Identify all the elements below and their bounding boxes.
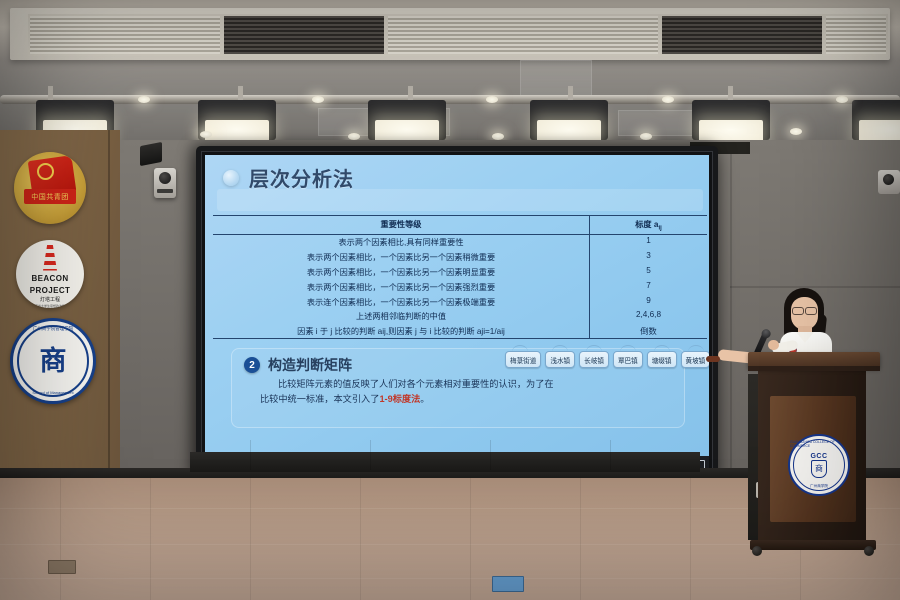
slide-title: 层次分析法 bbox=[249, 163, 354, 192]
table-cell-scale: 7 bbox=[590, 279, 707, 294]
location-chip[interactable]: 梅菉街道 bbox=[505, 351, 541, 368]
table-cell-level: 表示两个因素相比，一个因素比另一个因素明显重要 bbox=[213, 265, 590, 280]
beacon-line3: 灯塔工程 bbox=[40, 296, 60, 303]
table-header-row: 重要性等级 标度 aij bbox=[213, 216, 707, 235]
air-vent-grille bbox=[222, 14, 386, 56]
seal-bottom-text: 广州商学院 bbox=[810, 484, 828, 489]
star-icon bbox=[37, 163, 54, 180]
table-cell-level: 表示两个因素相比，一个因素比另一个因素稍微重要 bbox=[213, 250, 590, 265]
table-cell-level: 表示两个因素相比，一个因素比另一个因素强烈重要 bbox=[213, 279, 590, 294]
floor-outlet bbox=[48, 560, 76, 574]
presenter-hand bbox=[768, 340, 779, 350]
school-badge-bottom-text: School of Management bbox=[13, 390, 93, 395]
downlight bbox=[492, 133, 504, 140]
lecture-hall-photo: 中国共青团 BEACON PROJECT 灯塔工程 广东省大学生思想政治教育 广… bbox=[0, 0, 900, 600]
location-chip[interactable]: 浅水镇 bbox=[545, 351, 575, 368]
table-header-scale-sub: ij bbox=[658, 226, 661, 232]
downlight bbox=[486, 96, 498, 103]
stage-light bbox=[368, 100, 446, 140]
table-cell-scale: 3 bbox=[590, 250, 707, 265]
college-seal: GUANGZHOU COLLEGE OF COMMERCE GCC 商 广州商学… bbox=[788, 434, 850, 496]
camera-lens-icon bbox=[883, 174, 894, 185]
podium-base bbox=[750, 540, 876, 550]
ceiling-soffit bbox=[10, 8, 890, 60]
location-chip-group: 梅菉街道 浅水镇 长岐镇 覃巴镇 塘缀镇 黄坡镇 bbox=[505, 351, 709, 368]
wall-panel-line bbox=[108, 130, 110, 488]
table-row: 表示两个因素相比,具有同样重要性 1 bbox=[213, 235, 707, 250]
section-body-highlight: 1-9标度法 bbox=[379, 394, 420, 404]
table-cell-scale: 1 bbox=[590, 235, 707, 250]
wall-camera bbox=[878, 170, 900, 194]
table-header-scale-text: 标度 a bbox=[635, 220, 658, 229]
table-cell-scale: 9 bbox=[590, 294, 707, 309]
air-vent-grille bbox=[386, 14, 660, 56]
display-screen[interactable]: 层次分析法 重要性等级 标度 aij 表示两个因素相比,具有同样重要性 1 表示… bbox=[205, 155, 709, 472]
camera-lens-icon bbox=[159, 172, 171, 184]
table-cell-level: 上述两相邻临判断的中值 bbox=[213, 309, 590, 324]
badge-ring bbox=[17, 325, 89, 397]
downlight bbox=[836, 96, 848, 103]
table-header-scale: 标度 aij bbox=[590, 216, 707, 234]
table-cell-level: 因素 i 于 j 比较的判断 aij,则因素 j 与 i 比较的判断 aji=1… bbox=[213, 324, 590, 339]
location-chip[interactable]: 黄坡镇 bbox=[681, 351, 710, 368]
air-vent-grille bbox=[28, 14, 222, 56]
caster-wheel bbox=[752, 546, 762, 556]
stage-light bbox=[852, 100, 900, 140]
table-cell-level: 表示两个因素相比,具有同样重要性 bbox=[213, 235, 590, 250]
downlight bbox=[312, 96, 324, 103]
downlight bbox=[790, 128, 802, 135]
table-row: 表示两个因素相比，一个因素比另一个因素明显重要 5 bbox=[213, 265, 707, 280]
camera-ir-strip bbox=[157, 189, 173, 193]
league-badge-text: 中国共青团 bbox=[24, 189, 76, 204]
table-cell-scale: 2,4,6,8 bbox=[590, 309, 707, 324]
scale-table: 重要性等级 标度 aij 表示两个因素相比,具有同样重要性 1 表示两个因素相比… bbox=[213, 215, 707, 339]
school-of-management-badge: 广州商学院管理学院 商 School of Management bbox=[10, 318, 96, 404]
air-vent-grille bbox=[660, 14, 824, 56]
stage-light bbox=[692, 100, 770, 140]
downlight bbox=[200, 131, 212, 138]
ceiling-speaker bbox=[140, 142, 162, 166]
air-vent-grille bbox=[824, 14, 888, 56]
stage-light bbox=[530, 100, 608, 140]
seal-top-text: GUANGZHOU COLLEGE OF COMMERCE bbox=[790, 440, 848, 448]
wall-camera bbox=[154, 168, 176, 198]
table-row: 因素 i 于 j 比较的判断 aij,则因素 j 与 i 比较的判断 aji=1… bbox=[213, 324, 707, 339]
caster-wheel bbox=[864, 546, 874, 556]
table-row: 上述两相邻临判断的中值 2,4,6,8 bbox=[213, 309, 707, 324]
lectern-podium: GUANGZHOU COLLEGE OF COMMERCE GCC 商 广州商学… bbox=[748, 352, 880, 562]
location-chip[interactable]: 长岐镇 bbox=[579, 351, 609, 368]
podium-top-edge bbox=[748, 366, 880, 371]
beacon-line1: BEACON bbox=[31, 274, 68, 283]
slide-title-row: 层次分析法 bbox=[223, 163, 354, 192]
table-cell-scale: 5 bbox=[590, 265, 707, 280]
section-heading: 构造判断矩阵 bbox=[268, 355, 352, 375]
step-number-badge: 2 bbox=[244, 357, 260, 373]
table-cell-scale: 倒数 bbox=[590, 324, 707, 339]
section-body: 比较矩阵元素的值反映了人们对各个元素相对重要性的认识，为了在比较中统一标准，本文… bbox=[260, 377, 560, 407]
section-heading-row: 2 构造判断矩阵 bbox=[244, 355, 352, 375]
school-badge-top-text: 广州商学院管理学院 bbox=[13, 326, 93, 332]
downlight bbox=[138, 96, 150, 103]
downlight bbox=[348, 133, 360, 140]
low-wall-bench bbox=[190, 452, 700, 472]
location-chip[interactable]: 覃巴镇 bbox=[613, 351, 643, 368]
table-cell-level: 表示连个因素相比，一个因素比另一个因素极端重要 bbox=[213, 294, 590, 309]
section-body-after: 。 bbox=[420, 394, 429, 404]
bullet-circle-icon bbox=[223, 170, 239, 186]
table-row: 表示两个因素相比，一个因素比另一个因素稍微重要 3 bbox=[213, 250, 707, 265]
interactive-flat-panel[interactable]: 层次分析法 重要性等级 标度 aij 表示两个因素相比,具有同样重要性 1 表示… bbox=[196, 146, 718, 481]
communist-youth-league-badge: 中国共青团 bbox=[14, 152, 86, 224]
table-row: 表示连个因素相比，一个因素比另一个因素极端重要 9 bbox=[213, 294, 707, 309]
glasses-icon bbox=[792, 307, 817, 313]
ceiling bbox=[0, 0, 900, 150]
floor-outlet bbox=[492, 576, 524, 592]
downlight bbox=[640, 133, 652, 140]
wall-seam bbox=[730, 148, 732, 478]
lighthouse-icon bbox=[43, 245, 57, 271]
location-chip[interactable]: 塘缀镇 bbox=[647, 351, 677, 368]
downlight bbox=[662, 96, 674, 103]
table-row: 表示两个因素相比，一个因素比另一个因素强烈重要 7 bbox=[213, 279, 707, 294]
slide-decoration-band bbox=[217, 189, 703, 211]
presenter-pointer-device bbox=[706, 356, 720, 362]
beacon-line2: PROJECT bbox=[30, 286, 71, 295]
student-presenter bbox=[772, 288, 844, 362]
table-header-importance: 重要性等级 bbox=[213, 216, 590, 234]
beacon-project-badge: BEACON PROJECT 灯塔工程 广东省大学生思想政治教育 bbox=[16, 240, 84, 308]
presentation-slide: 层次分析法 重要性等级 标度 aij 表示两个因素相比,具有同样重要性 1 表示… bbox=[205, 155, 709, 456]
